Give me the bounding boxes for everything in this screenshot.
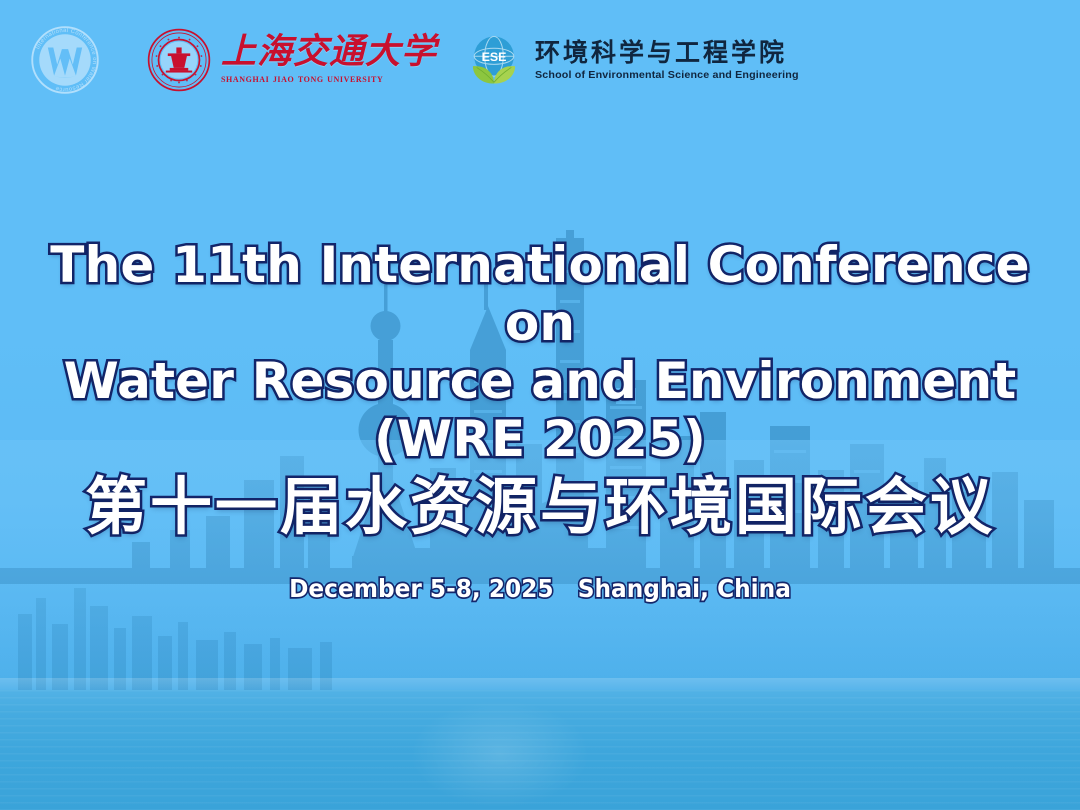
svg-text:ESE: ESE [482,50,507,64]
ese-globe-leaf-icon: ESE [463,29,525,91]
circular-w-water-emblem-icon: International Conference on Water Resour… [26,21,104,99]
water-glint [410,700,590,808]
title-line-1: The 11th International Conference on [26,236,1054,352]
conference-meta: December 5-8, 2025Shanghai, China [38,574,1042,603]
title-line-3-acronym: (WRE 2025) [26,410,1054,468]
sjtu-seal-icon [146,27,212,93]
conference-date: December 5-8, 2025 [289,574,553,603]
conference-title-cn: 第十一届水资源与环境国际会议 [0,472,1080,541]
logo-bar: International Conference on Water Resour… [0,0,1080,120]
sjtu-logo: 上海交通大学 Shanghai Jiao Tong University [146,27,437,93]
headline-block: The 11th International Conference on Wat… [0,236,1080,603]
conference-banner: International Conference on Water Resour… [0,0,1080,810]
ese-logo: ESE 环境科学与工程学院 School of Environmental Sc… [463,29,794,91]
conference-location: Shanghai, China [578,574,791,603]
sjtu-name-en: Shanghai Jiao Tong University [221,74,437,86]
ese-wordmark: 环境科学与工程学院 School of Environmental Scienc… [535,40,794,81]
conference-title-en: The 11th International Conference on Wat… [0,236,1080,468]
ese-name-cn: 环境科学与工程学院 [535,40,794,65]
sjtu-name-cn: 上海交通大学 [221,34,437,69]
ese-name-en: School of Environmental Science and Engi… [535,70,799,81]
title-line-2: Water Resource and Environment [26,352,1054,410]
wre-emblem-logo: International Conference on Water Resour… [26,21,104,99]
sjtu-wordmark: 上海交通大学 Shanghai Jiao Tong University [221,34,437,86]
